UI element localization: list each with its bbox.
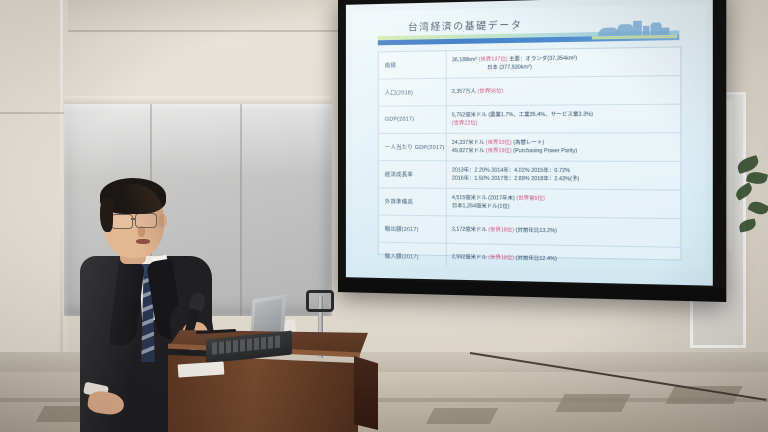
presentation-slide: 台湾経済の基礎データ 面積36,188km² (世界137位) 主要：オランダ(… [352,3,706,271]
data-table: 面積36,188km² (世界137位) 主要：オランダ(37,354km²)日… [378,46,682,260]
presentation-photo: 台湾経済の基礎データ 面積36,188km² (世界137位) 主要：オランダ(… [0,0,768,432]
table-value-line: 日本 (377,930km²) [452,61,676,72]
table-value-note: 日本 (377,930km²) [487,64,532,71]
table-column-divider [446,79,447,106]
left-wall-horizontal-seam [0,112,68,114]
screen-surface: 台湾経済の基礎データ 面積36,188km² (世界137位) 主要：オランダ(… [346,0,713,286]
panel-gloss [64,104,332,178]
world-rank-annotation: (世界137位) [479,56,509,63]
potted-plant [735,150,768,270]
table-row-label: 一人当たり GDP(2017) [379,137,452,157]
slide-title: 台湾経済の基礎データ [408,17,523,34]
table-row: 人口(2018)2,357万人 (世界56位) [379,76,681,107]
table-column-divider [446,134,447,160]
table-value-line: (世界22位) [452,119,676,128]
table-row: 外貨準備高4,515億米ドル (2017年末) (世界第5位) 日本1,264億… [379,188,681,219]
city-skyline-illustration [592,17,677,40]
table-column-divider [446,189,447,216]
table-value-line: 2,592億米ドル (世界18位) (対前年比12.4%) [452,253,676,266]
projection-screen: 台湾経済の基礎データ 面積36,188km² (世界137位) 主要：オランダ(… [338,0,726,302]
world-rank-annotation: (世界18位) [488,255,515,262]
table-value-note: (為替レート) [513,140,544,146]
table-value-line: 24,337米ドル (世界33位) (為替レート) [452,139,676,148]
table-row-value: 5,752億米ドル (農業1.7%、工業35.4%、サービス業3.3%)(世界2… [452,108,681,130]
table-row-label: 輸出額(2017) [379,219,452,240]
microphone-stand-clip [306,290,334,312]
table-value-line: 2016年：1.50% 2017年：2.89% 2018年：2.43%(予) [452,175,676,185]
table-row-value: 2,592億米ドル (世界18位) (対前年比12.4%) [452,247,681,272]
table-value-line: 日本1,264億米ドル(1位) [452,202,676,213]
table-column-divider [446,216,447,243]
table-value-note: (Purchasing Power Parity) [513,148,577,154]
table-row: 輸入額(2017)2,592億米ドル (世界18位) (対前年比12.4%) [379,243,681,272]
table-row-value: 4,515億米ドル (2017年末) (世界第5位) 日本1,264億米ドル(1… [452,192,681,215]
table-value-note: 主要：オランダ(37,354km²) [509,55,577,62]
table-row-label: 外貨準備高 [379,191,452,212]
table-value-line: 3,172億米ドル (世界18位) (対前年比13.2%) [452,226,676,238]
table-value-note: (農業1.7%、工業35.4%、サービス業3.3%) [488,111,593,118]
table-value-note: (対前年比13.2%) [516,227,557,234]
table-row: 経済成長率2013年：2.20% 2014年：4.02% 2015年：0.72%… [379,161,681,190]
table-value-line: 2,357万人 (世界56位) [452,86,676,96]
table-column-divider [446,244,447,271]
world-rank-annotation: (世界19位) [486,148,513,154]
table-row-value: 24,337米ドル (世界33位) (為替レート)49,827米ドル (世界19… [452,137,681,158]
podium-side-panel [354,356,378,430]
table-row-value: 36,188km² (世界137位) 主要：オランダ(37,354km²)日本 … [452,51,681,75]
table-row: 面積36,188km² (世界137位) 主要：オランダ(37,354km²)日… [379,47,681,79]
table-row-value: 3,172億米ドル (世界18位) (対前年比13.2%) [452,219,681,243]
table-row: GDP(2017)5,752億米ドル (農業1.7%、工業35.4%、サービス業… [379,105,681,134]
table-row-label: 面積 [379,54,452,75]
left-wall-panel [0,0,68,358]
panel-seam-2 [240,104,242,316]
table-row-label: 経済成長率 [379,164,452,185]
face-shading [104,184,164,258]
table-row-value: 2013年：2.20% 2014年：4.02% 2015年：0.72% 2016… [452,164,681,186]
world-rank-annotation: (世界第5位) [516,195,545,201]
table-row-label: 人口(2018) [379,82,452,103]
table-value-line: 49,827米ドル (世界19位) (Purchasing Power Pari… [452,147,676,156]
table-row-label: GDP(2017) [379,109,452,130]
world-rank-annotation: (世界56位) [477,88,503,94]
table-row: 一人当たり GDP(2017)24,337米ドル (世界33位) (為替レート)… [379,133,681,162]
table-row-value: 2,357万人 (世界56位) [452,79,681,102]
world-rank-annotation: (世界18位) [488,227,515,234]
table-row-label: 輸入額(2017) [379,246,452,268]
table-column-divider [446,161,447,188]
table-column-divider [446,51,447,78]
table-column-divider [446,106,447,132]
world-rank-annotation: (世界22位) [452,120,478,126]
left-wall-seam [60,0,63,358]
world-rank-annotation: (世界33位) [486,140,513,146]
table-value-note: (対前年比12.4%) [516,255,557,262]
